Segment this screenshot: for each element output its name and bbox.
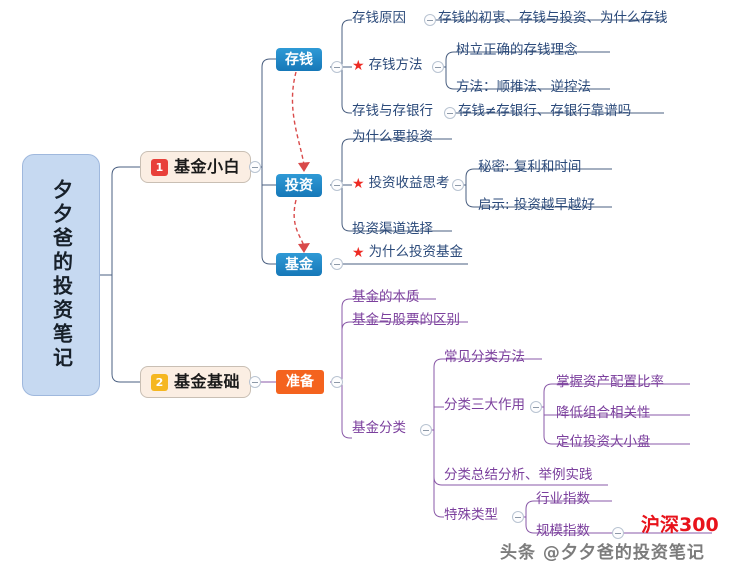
node-基金的本质[interactable]: 基金的本质 <box>352 291 420 305</box>
node-label: 常见分类方法 <box>444 351 525 365</box>
node-准备[interactable]: 准备 <box>276 370 324 394</box>
node-定位投资大小盘[interactable]: 定位投资大小盘 <box>556 436 651 450</box>
node-label: 基金与股票的区别 <box>352 314 460 328</box>
root-node[interactable]: 夕夕爸的投资笔记 <box>22 154 100 396</box>
node-秘密复利和时间[interactable]: 秘密: 复利和时间 <box>478 161 581 175</box>
collapse-toggle-分类三大作用[interactable] <box>530 401 542 413</box>
node-label: 存钱方法 <box>369 59 423 73</box>
node-存钱原因[interactable]: 存钱原因 <box>352 12 406 26</box>
node-label: 存钱≠存银行、存银行靠谱吗 <box>458 105 631 119</box>
collapse-toggle-准备[interactable] <box>331 376 343 388</box>
node-投资[interactable]: 投资 <box>276 174 322 197</box>
node-label: 树立正确的存钱理念 <box>456 44 578 58</box>
node-启示投资越早越好[interactable]: 启示: 投资越早越好 <box>478 199 595 213</box>
collapse-toggle-投资[interactable] <box>331 179 343 191</box>
star-icon: ★ <box>352 246 365 260</box>
node-分类总结分析举例实践[interactable]: 分类总结分析、举例实践 <box>444 469 593 483</box>
node-存钱原因-detail[interactable]: 存钱的初衷、存钱与投资、为什么存钱 <box>438 12 668 26</box>
collapse-toggle-基金基础[interactable] <box>249 376 261 388</box>
node-存钱方法[interactable]: ★ 存钱方法 <box>352 59 423 73</box>
node-label: 投资 <box>285 179 313 193</box>
node-存钱[interactable]: 存钱 <box>276 48 322 71</box>
node-分类三大作用[interactable]: 分类三大作用 <box>444 399 525 413</box>
node-基金[interactable]: 基金 <box>276 253 322 276</box>
branch-node-基金小白[interactable]: 1 基金小白 <box>140 151 251 183</box>
branch-label: 基金基础 <box>174 374 240 390</box>
branch-node-基金基础[interactable]: 2 基金基础 <box>140 366 251 398</box>
node-label: 存钱 <box>285 53 313 67</box>
node-label: 分类三大作用 <box>444 399 525 413</box>
node-label: 投资收益思考 <box>369 177 450 191</box>
collapse-toggle-存钱方法[interactable] <box>432 61 444 73</box>
node-降低组合相关性[interactable]: 降低组合相关性 <box>556 407 651 421</box>
collapse-toggle-存钱原因[interactable] <box>424 14 436 26</box>
collapse-toggle-存钱[interactable] <box>331 61 343 73</box>
node-存钱与存银行-detail[interactable]: 存钱≠存银行、存银行靠谱吗 <box>458 105 631 119</box>
node-label: 特殊类型 <box>444 509 498 523</box>
collapse-toggle-基金分类[interactable] <box>420 424 432 436</box>
collapse-toggle-投资收益思考[interactable] <box>452 179 464 191</box>
node-树立正确的存钱理念[interactable]: 树立正确的存钱理念 <box>456 44 578 58</box>
node-规模指数[interactable]: 规模指数 <box>536 525 590 539</box>
collapse-toggle-存钱与存银行[interactable] <box>444 107 456 119</box>
node-基金分类[interactable]: 基金分类 <box>352 422 406 436</box>
node-label: 方法：顺推法、逆控法 <box>456 81 591 95</box>
connector-lines <box>0 0 732 570</box>
node-行业指数[interactable]: 行业指数 <box>536 493 590 507</box>
collapse-toggle-基金[interactable] <box>331 258 343 270</box>
node-label: 行业指数 <box>536 493 590 507</box>
node-投资渠道选择[interactable]: 投资渠道选择 <box>352 223 433 237</box>
branch-label: 基金小白 <box>174 159 240 175</box>
node-label: 存钱与存银行 <box>352 105 433 119</box>
star-icon: ★ <box>352 177 365 191</box>
node-label: 为什么投资基金 <box>369 246 464 260</box>
node-label: 存钱的初衷、存钱与投资、为什么存钱 <box>438 12 668 26</box>
branch-badge: 1 <box>151 159 168 176</box>
watermark: 头条 @夕夕爸的投资笔记 <box>500 538 705 563</box>
branch-badge: 2 <box>151 374 168 391</box>
node-基金与股票的区别[interactable]: 基金与股票的区别 <box>352 314 460 328</box>
node-掌握资产配置比率[interactable]: 掌握资产配置比率 <box>556 376 664 390</box>
node-label: 定位投资大小盘 <box>556 436 651 450</box>
node-label: 沪深300 <box>641 514 719 536</box>
node-label: 降低组合相关性 <box>556 407 651 421</box>
node-label: 掌握资产配置比率 <box>556 376 664 390</box>
collapse-toggle-基金小白[interactable] <box>249 161 261 173</box>
node-特殊类型[interactable]: 特殊类型 <box>444 509 498 523</box>
node-存钱与存银行[interactable]: 存钱与存银行 <box>352 105 433 119</box>
node-存钱方法-方法[interactable]: 方法：顺推法、逆控法 <box>456 81 591 95</box>
collapse-toggle-特殊类型[interactable] <box>512 511 524 523</box>
root-title: 夕夕爸的投资笔记 <box>50 179 73 371</box>
node-label: 存钱原因 <box>352 12 406 26</box>
node-label: 投资渠道选择 <box>352 223 433 237</box>
node-label: 分类总结分析、举例实践 <box>444 469 593 483</box>
node-投资收益思考[interactable]: ★ 投资收益思考 <box>352 177 450 191</box>
node-沪深300[interactable]: 沪深300 <box>641 516 719 535</box>
node-为什么投资基金[interactable]: ★ 为什么投资基金 <box>352 246 463 260</box>
node-label: 基金 <box>285 258 313 272</box>
node-label: 秘密: 复利和时间 <box>478 161 581 175</box>
node-label: 为什么要投资 <box>352 131 433 145</box>
node-label: 规模指数 <box>536 525 590 539</box>
star-icon: ★ <box>352 59 365 73</box>
node-label: 启示: 投资越早越好 <box>478 199 595 213</box>
mindmap-canvas: 夕夕爸的投资笔记 1 基金小白 2 基金基础 存钱 投资 基金 准备 存钱原因 … <box>0 0 732 570</box>
node-常见分类方法[interactable]: 常见分类方法 <box>444 351 525 365</box>
node-label: 基金的本质 <box>352 291 420 305</box>
node-为什么要投资[interactable]: 为什么要投资 <box>352 131 433 145</box>
node-label: 基金分类 <box>352 422 406 436</box>
node-label: 准备 <box>286 375 314 389</box>
